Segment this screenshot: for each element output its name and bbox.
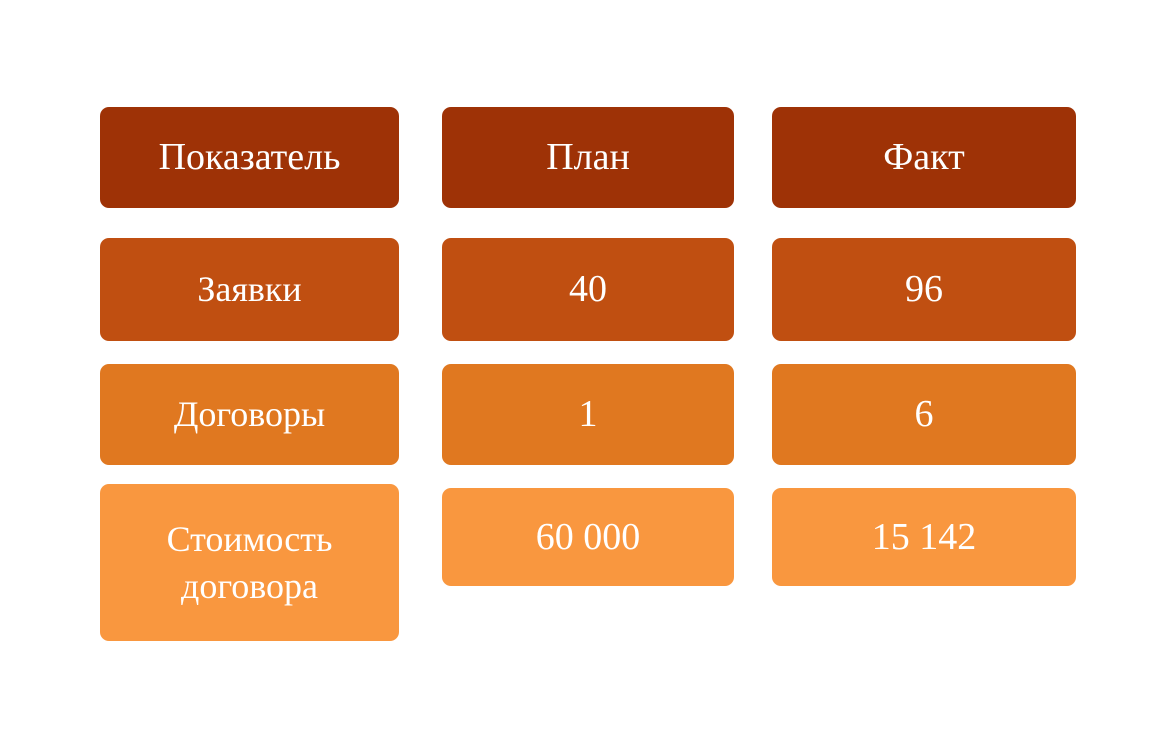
table-row-metric-label: Заявки	[100, 238, 399, 341]
table-row-plan-value: 60 000	[442, 488, 734, 586]
table-row-fact-value: 6	[772, 364, 1076, 465]
table-row-fact-value: 96	[772, 238, 1076, 341]
table-row-fact-value: 15 142	[772, 488, 1076, 586]
plan-fact-table: Показатель План Факт Заявки 40 96 Догово…	[0, 0, 1176, 747]
table-row-plan-value: 40	[442, 238, 734, 341]
table-row-metric-label: Стоимость договора	[100, 484, 399, 641]
table-header-cell-metric: Показатель	[100, 107, 399, 208]
table-header-cell-plan: План	[442, 107, 734, 208]
table-row-plan-value: 1	[442, 364, 734, 465]
table-row-metric-label: Договоры	[100, 364, 399, 465]
table-header-cell-fact: Факт	[772, 107, 1076, 208]
